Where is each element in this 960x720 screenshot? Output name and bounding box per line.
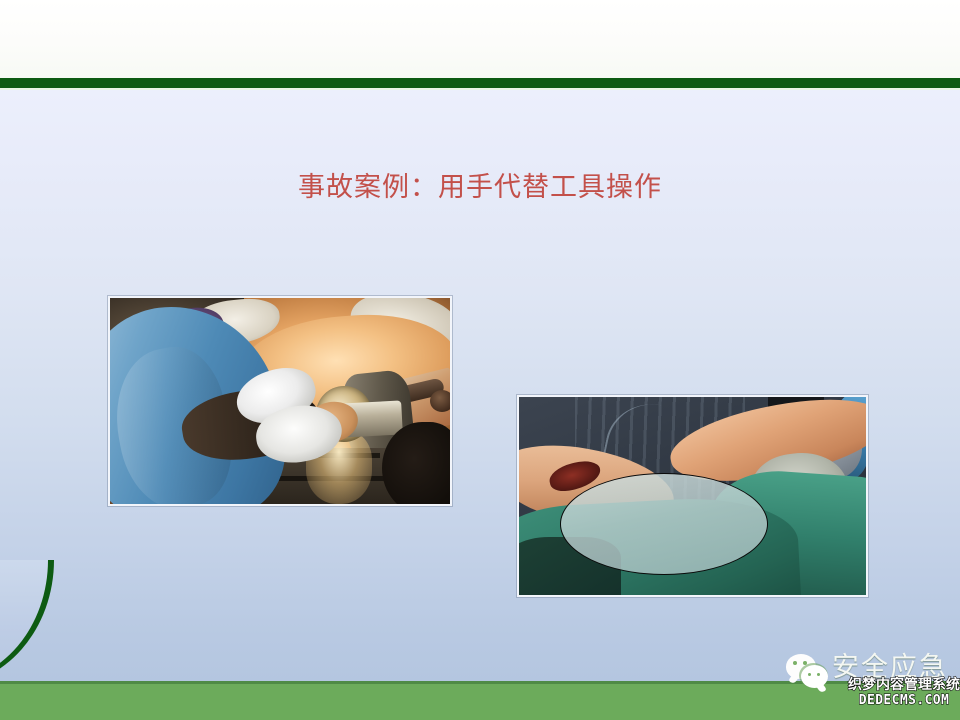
footer-branding: 安全应急 织梦内容管理系统 DEDECMS.COM	[786, 652, 960, 710]
wechat-icon-dot-1	[793, 661, 797, 665]
injury-photo-highlight-ellipse	[560, 473, 768, 575]
site-watermark: 织梦内容管理系统 DEDECMS.COM	[846, 678, 960, 708]
watermark-chinese: 织梦内容管理系统	[846, 678, 960, 693]
wechat-icon	[786, 654, 832, 692]
header-accent-rule	[0, 78, 960, 88]
slide-title: 事故案例：用手代替工具操作	[0, 170, 960, 206]
wechat-icon-bubble-small	[801, 665, 828, 688]
watermark-domain: DEDECMS.COM	[846, 693, 960, 708]
presentation-slide: 事故案例：用手代替工具操作	[0, 0, 960, 720]
surgery-photo-tool-knob	[430, 390, 450, 412]
injury-photo	[517, 395, 868, 597]
slide-header-band	[0, 0, 960, 78]
surgery-photo-content	[110, 298, 450, 504]
injury-photo-content	[519, 397, 866, 595]
wechat-icon-dot-2	[803, 661, 807, 665]
surgery-photo	[108, 296, 452, 506]
